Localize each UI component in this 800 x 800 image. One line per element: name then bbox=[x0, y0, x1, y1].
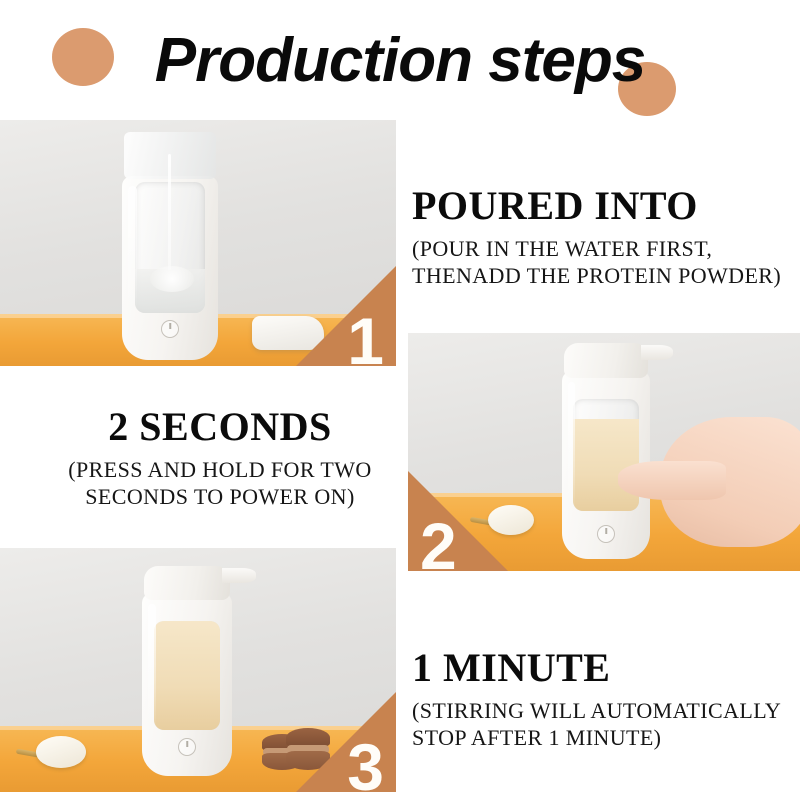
water-stream bbox=[168, 154, 171, 270]
bottle-highlight bbox=[148, 604, 156, 730]
step-3-heading: 1 MINUTE bbox=[412, 645, 796, 691]
step-2-caption-line-1: (PRESS AND HOLD FOR TWO bbox=[30, 456, 410, 483]
step-3-number: 3 bbox=[347, 734, 384, 792]
bottle-highlight bbox=[128, 186, 136, 313]
power-button-icon bbox=[161, 320, 179, 338]
bottle-lid bbox=[564, 343, 648, 378]
index-finger bbox=[618, 461, 726, 500]
page-title: Production steps bbox=[0, 26, 800, 96]
step-1-caption-line-1: (POUR IN THE WATER FIRST, bbox=[412, 235, 796, 262]
hand-pressing-button bbox=[618, 417, 800, 547]
bottle-window bbox=[154, 621, 221, 730]
power-button-icon bbox=[178, 738, 196, 756]
macaron-front bbox=[286, 728, 330, 770]
step-2-heading: 2 SECONDS bbox=[30, 404, 410, 450]
step-1-heading: POURED INTO bbox=[412, 183, 796, 229]
step-3-photo: 3 bbox=[0, 548, 396, 792]
bottle-lid-tab bbox=[641, 345, 674, 360]
step-1-caption-line-2: THENADD THE PROTEIN POWDER) bbox=[412, 262, 796, 289]
bottle-lid bbox=[144, 566, 230, 600]
step-1-text-block: POURED INTO (POUR IN THE WATER FIRST, TH… bbox=[412, 183, 796, 289]
bottle-liquid-shake bbox=[154, 621, 221, 730]
step-2-text-block: 2 SECONDS (PRESS AND HOLD FOR TWO SECOND… bbox=[30, 404, 410, 510]
bottle-cap-on-table bbox=[252, 316, 324, 350]
page-header: Production steps bbox=[0, 0, 800, 118]
step-2-caption-line-2: SECONDS TO POWER ON) bbox=[30, 483, 410, 510]
shaker-bottle bbox=[138, 566, 236, 776]
spoon-with-powder bbox=[470, 505, 534, 535]
step-3-caption-line-1: (STIRRING WILL AUTOMATICALLY bbox=[412, 697, 796, 724]
bottle-lid-tab bbox=[222, 568, 255, 583]
infographic-page: Production steps 1 POURED INTO (POUR IN … bbox=[0, 0, 800, 800]
step-1-photo: 1 bbox=[0, 120, 396, 366]
step-1-number: 1 bbox=[347, 308, 384, 366]
step-3-caption-line-2: STOP AFTER 1 MINUTE) bbox=[412, 724, 796, 751]
step-2-number: 2 bbox=[420, 513, 457, 571]
water-splash bbox=[150, 266, 194, 292]
step-2-photo: 2 bbox=[408, 333, 800, 571]
protein-powder-scoop bbox=[488, 505, 534, 535]
protein-powder-scoop bbox=[36, 736, 86, 768]
power-button-icon bbox=[597, 525, 615, 543]
step-3-text-block: 1 MINUTE (STIRRING WILL AUTOMATICALLY ST… bbox=[412, 645, 796, 751]
spoon-with-powder bbox=[16, 736, 86, 768]
bottle-highlight bbox=[568, 382, 576, 512]
